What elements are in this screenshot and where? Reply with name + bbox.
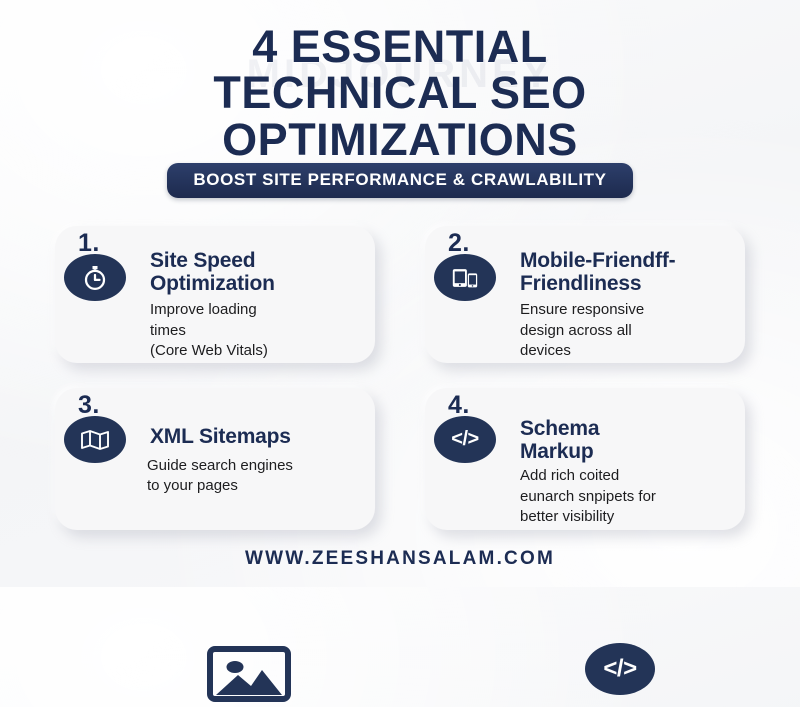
card-description: Add rich coited eunarch snpipets for bet… — [520, 466, 755, 527]
title-line-3: OPTIMIZATIONS — [0, 117, 800, 163]
card-title: Site Speed Optimization — [150, 250, 387, 295]
title-line-1: 4 ESSENTIAL — [0, 24, 800, 70]
card-description: Improve loading times (Core Web Vitals) — [150, 300, 387, 361]
subtitle-banner-container: BOOST SITE PERFORMANCE & CRAWLABILITY — [0, 163, 800, 198]
card-body: Schema Markup Add rich coited eunarch sn… — [520, 418, 755, 528]
header: MIDJOURNEY 4 ESSENTIAL TECHNICAL SEO OPT… — [0, 0, 800, 163]
page-title: 4 ESSENTIAL TECHNICAL SEO OPTIMIZATIONS — [0, 0, 800, 163]
code-brackets-icon: </> — [434, 416, 496, 463]
card-body: Site Speed Optimization Improve loading … — [150, 250, 387, 362]
card-title: XML Sitemaps — [150, 426, 427, 449]
title-line-2: TECHNICAL SEO — [0, 70, 800, 116]
cards-grid: 1. Site Speed Optimization Improve loadi… — [55, 226, 745, 530]
card-schema-markup[interactable]: 4. </> Schema Markup Add rich coited eun… — [425, 388, 745, 530]
card-title: Mobile-Friendff- Friendliness — [520, 250, 765, 295]
subtitle-banner: BOOST SITE PERFORMANCE & CRAWLABILITY — [167, 163, 632, 198]
card-xml-sitemaps[interactable]: 3. XML Sitemaps Guide search engines to … — [55, 388, 375, 530]
card-description: Guide search engines to your pages — [147, 456, 427, 497]
mobile-devices-icon — [434, 254, 496, 301]
map-icon — [64, 416, 126, 463]
card-body: Mobile-Friendff- Friendliness Ensure res… — [520, 250, 765, 362]
stopwatch-icon — [64, 254, 126, 301]
card-site-speed[interactable]: 1. Site Speed Optimization Improve loadi… — [55, 226, 375, 363]
image-placeholder-icon — [207, 646, 291, 707]
card-title: Schema Markup — [520, 418, 755, 463]
code-brackets-glyph-large: </> — [603, 655, 636, 683]
card-description: Ensure responsive design across all devi… — [520, 300, 765, 361]
card-mobile-friendliness[interactable]: 2. Mobile-Friendff- Friendliness Ensure … — [425, 226, 745, 363]
card-body: XML Sitemaps Guide search engines to you… — [150, 426, 427, 496]
code-brackets-icon-large: </> — [585, 643, 655, 695]
code-brackets-glyph: </> — [451, 428, 478, 451]
footer-url[interactable]: WWW.ZEESHANSALAM.COM — [0, 548, 800, 570]
